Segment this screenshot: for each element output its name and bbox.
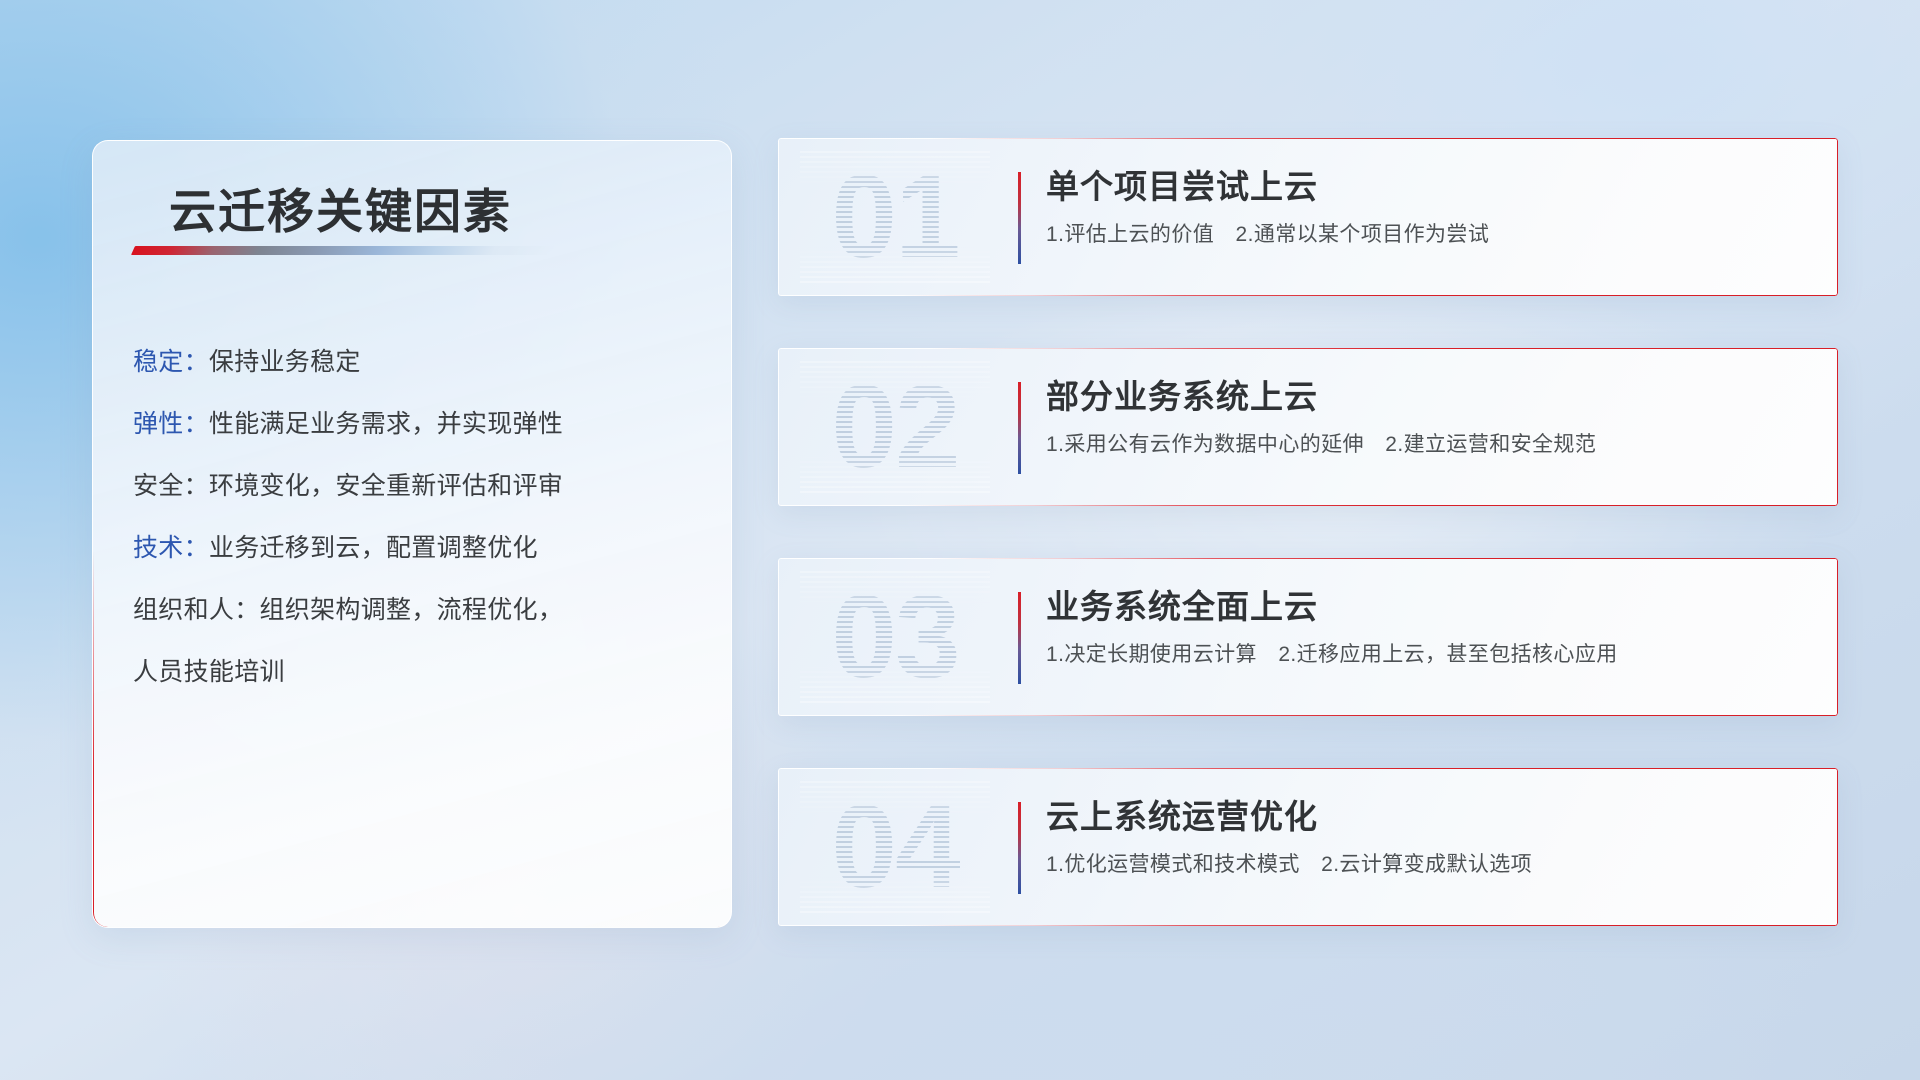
card-body: 云上系统运营优化 1.优化运营模式和技术模式 2.云计算变成默认选项	[1046, 794, 1812, 880]
stage-card[interactable]: 01 单个项目尝试上云 1.评估上云的价值 2.通常以某个项目作为尝试	[778, 138, 1838, 296]
list-item: 稳定：保持业务稳定	[133, 331, 693, 393]
factor-text: 性能满足业务需求，并实现弹性	[209, 410, 563, 438]
card-description: 1.评估上云的价值 2.通常以某个项目作为尝试	[1046, 220, 1812, 250]
key-factors-list: 稳定：保持业务稳定 弹性：性能满足业务需求，并实现弹性 安全：环境变化，安全重新…	[133, 331, 693, 703]
factor-text: 环境变化，安全重新评估和评审	[209, 472, 563, 500]
card-description: 1.采用公有云作为数据中心的延伸 2.建立运营和安全规范	[1046, 430, 1812, 460]
card-divider	[1018, 592, 1021, 684]
card-body: 业务系统全面上云 1.决定长期使用云计算 2.迁移应用上云，甚至包括核心应用	[1046, 584, 1812, 670]
stage-card-list: 01 单个项目尝试上云 1.评估上云的价值 2.通常以某个项目作为尝试 02 部…	[778, 138, 1838, 926]
stage-card[interactable]: 02 部分业务系统上云 1.采用公有云作为数据中心的延伸 2.建立运营和安全规范	[778, 348, 1838, 506]
page-title: 云迁移关键因素	[169, 173, 512, 242]
stage-card[interactable]: 04 云上系统运营优化 1.优化运营模式和技术模式 2.云计算变成默认选项	[778, 768, 1838, 926]
stage-number-watermark: 02	[800, 361, 990, 493]
list-item: 安全：环境变化，安全重新评估和评审	[133, 455, 693, 517]
list-item: 技术：业务迁移到云，配置调整优化	[133, 517, 693, 579]
title-underline-bar	[131, 246, 555, 255]
card-description: 1.决定长期使用云计算 2.迁移应用上云，甚至包括核心应用	[1046, 640, 1812, 670]
list-item: 弹性：性能满足业务需求，并实现弹性	[133, 393, 693, 455]
card-title: 云上系统运营优化	[1046, 794, 1812, 840]
card-divider	[1018, 382, 1021, 474]
stage-number-watermark: 01	[800, 151, 990, 283]
stage-card[interactable]: 03 业务系统全面上云 1.决定长期使用云计算 2.迁移应用上云，甚至包括核心应…	[778, 558, 1838, 716]
card-divider	[1018, 802, 1021, 894]
card-body: 单个项目尝试上云 1.评估上云的价值 2.通常以某个项目作为尝试	[1046, 164, 1812, 250]
factor-key: 安全：	[133, 472, 209, 500]
factor-key: 弹性：	[133, 410, 209, 438]
card-title: 部分业务系统上云	[1046, 374, 1812, 420]
list-item: 人员技能培训	[133, 641, 693, 703]
stage-number-watermark: 03	[800, 571, 990, 703]
card-divider	[1018, 172, 1021, 264]
factor-text: 人员技能培训	[133, 658, 285, 686]
stage-number-watermark: 04	[800, 781, 990, 913]
card-body: 部分业务系统上云 1.采用公有云作为数据中心的延伸 2.建立运营和安全规范	[1046, 374, 1812, 460]
factor-key: 稳定：	[133, 348, 209, 376]
card-title: 单个项目尝试上云	[1046, 164, 1812, 210]
card-description: 1.优化运营模式和技术模式 2.云计算变成默认选项	[1046, 850, 1812, 880]
key-factors-panel: 云迁移关键因素 稳定：保持业务稳定 弹性：性能满足业务需求，并实现弹性 安全：环…	[92, 140, 732, 928]
factor-key: 组织和人：	[133, 596, 260, 624]
list-item: 组织和人：组织架构调整，流程优化，	[133, 579, 693, 641]
factor-text: 保持业务稳定	[209, 348, 361, 376]
factor-text: 组织架构调整，流程优化，	[260, 596, 564, 624]
factor-key: 技术：	[133, 534, 209, 562]
factor-text: 业务迁移到云，配置调整优化	[209, 534, 538, 562]
card-title: 业务系统全面上云	[1046, 584, 1812, 630]
